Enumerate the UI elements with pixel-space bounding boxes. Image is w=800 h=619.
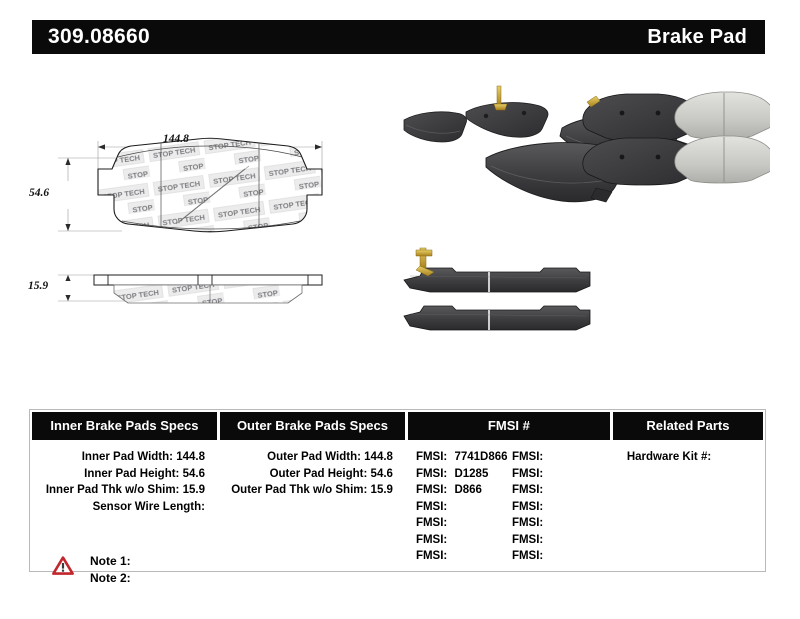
- fmsi-value: [543, 534, 547, 546]
- table-body-row: Inner Pad Width: 144.8 Inner Pad Height:…: [30, 442, 765, 571]
- header-outer-specs: Outer Brake Pads Specs: [220, 412, 405, 440]
- note-line: Note 2:: [90, 570, 131, 587]
- spec-label: Outer Pad Height:: [270, 468, 368, 480]
- technical-drawing: STOP TECH STOP TECH: [30, 125, 390, 355]
- spec-row: Outer Pad Thk w/o Shim: 15.9: [220, 482, 405, 499]
- fmsi-column-right: FMSI: FMSI: FMSI: FMSI:: [512, 449, 608, 565]
- fmsi-row: FMSI:: [416, 548, 512, 565]
- sensor-bracket-edge: [416, 248, 434, 276]
- fmsi-row: FMSI: D1285: [416, 466, 512, 483]
- fmsi-value: [543, 484, 547, 496]
- spec-label: Inner Pad Height:: [84, 468, 179, 480]
- fmsi-row: FMSI:: [512, 466, 608, 483]
- page-header-bar: 309.08660 Brake Pad: [32, 20, 765, 54]
- spec-row: Sensor Wire Length:: [32, 499, 217, 516]
- table-header-row: Inner Brake Pads Specs Outer Brake Pads …: [30, 410, 765, 442]
- fmsi-value: [447, 534, 451, 546]
- fmsi-row: FMSI:: [512, 532, 608, 549]
- part-number: 309.08660: [48, 25, 150, 49]
- width-arrow-right: [315, 144, 322, 149]
- spec-value: 54.6: [371, 468, 393, 480]
- brake-pad-pair-edge-photo: [404, 248, 590, 330]
- fmsi-value: [543, 468, 547, 480]
- thickness-dimension-label: 15.9: [28, 280, 48, 292]
- fmsi-row: FMSI:: [512, 449, 608, 466]
- spec-label: Outer Pad Thk w/o Shim:: [231, 484, 367, 496]
- related-part-row: Hardware Kit #:: [613, 449, 763, 466]
- fmsi-value: [543, 550, 547, 562]
- fmsi-label: FMSI:: [416, 501, 447, 513]
- fmsi-label: FMSI:: [512, 468, 543, 480]
- sensor-wire-clip: [497, 86, 501, 106]
- width-dimension-label: 144.8: [163, 133, 189, 145]
- spec-value: 15.9: [371, 484, 393, 496]
- spec-row: Inner Pad Width: 144.8: [32, 449, 217, 466]
- spec-value: 15.9: [183, 484, 205, 496]
- fmsi-value: [447, 517, 451, 529]
- related-parts-cell: Hardware Kit #:: [613, 442, 763, 565]
- fmsi-column-left: FMSI: 7741D866 FMSI: D1285 FMSI: D866 FM…: [416, 449, 512, 565]
- fmsi-row: FMSI:: [512, 548, 608, 565]
- note-lines: Note 1: Note 2:: [90, 553, 131, 587]
- spec-label: Sensor Wire Length:: [93, 501, 205, 513]
- spec-row: Outer Pad Width: 144.8: [220, 449, 405, 466]
- height-dimension-label: 54.6: [29, 187, 49, 199]
- related-part-label: Hardware Kit #:: [627, 451, 711, 463]
- fmsi-row: FMSI: 7741D866: [416, 449, 512, 466]
- fmsi-value: D1285: [450, 468, 488, 480]
- fmsi-label: FMSI:: [416, 484, 447, 496]
- product-type-title: Brake Pad: [647, 26, 747, 49]
- fmsi-cell: FMSI: 7741D866 FMSI: D1285 FMSI: D866 FM…: [408, 442, 610, 565]
- fmsi-row: FMSI: D866: [416, 482, 512, 499]
- pad-front-outline: [98, 138, 322, 232]
- fmsi-value: 7741D866: [450, 451, 507, 463]
- outer-specs-cell: Outer Pad Width: 144.8 Outer Pad Height:…: [220, 442, 405, 565]
- fmsi-value: [543, 517, 547, 529]
- fmsi-value: [447, 501, 451, 513]
- fmsi-row: FMSI:: [416, 499, 512, 516]
- height-arrow-top: [65, 158, 70, 165]
- fmsi-label: FMSI:: [512, 550, 543, 562]
- fmsi-row: FMSI:: [416, 532, 512, 549]
- brake-pad-drawing-svg: STOP TECH STOP TECH: [30, 125, 390, 355]
- spec-row: Outer Pad Height: 54.6: [220, 466, 405, 483]
- fmsi-label: FMSI:: [512, 501, 543, 513]
- header-inner-specs: Inner Brake Pads Specs: [32, 412, 217, 440]
- spec-label: Outer Pad Width:: [267, 451, 361, 463]
- spec-value: 144.8: [176, 451, 205, 463]
- spec-value: 144.8: [364, 451, 393, 463]
- fmsi-label: FMSI:: [416, 468, 447, 480]
- fmsi-label: FMSI:: [416, 451, 447, 463]
- pad-side-profile: [58, 275, 322, 303]
- spec-row: Inner Pad Thk w/o Shim: 15.9: [32, 482, 217, 499]
- product-photos: [390, 80, 770, 370]
- fmsi-value: [543, 501, 547, 513]
- spec-row: Inner Pad Height: 54.6: [32, 466, 217, 483]
- fmsi-label: FMSI:: [512, 534, 543, 546]
- inner-specs-cell: Inner Pad Width: 144.8 Inner Pad Height:…: [32, 442, 217, 565]
- fmsi-label: FMSI:: [416, 534, 447, 546]
- product-photos-svg: [390, 80, 770, 370]
- header-fmsi: FMSI #: [408, 412, 610, 440]
- spec-value: 54.6: [183, 468, 205, 480]
- note-line: Note 1:: [90, 553, 131, 570]
- width-arrow-left: [98, 144, 105, 149]
- fmsi-value: [447, 550, 451, 562]
- specifications-table: Inner Brake Pads Specs Outer Brake Pads …: [29, 409, 766, 572]
- fmsi-row: FMSI:: [512, 499, 608, 516]
- fmsi-label: FMSI:: [512, 484, 543, 496]
- fmsi-label: FMSI:: [416, 550, 447, 562]
- fmsi-value: [543, 451, 547, 463]
- fmsi-row: FMSI:: [416, 515, 512, 532]
- fmsi-label: FMSI:: [512, 517, 543, 529]
- notes-section: Note 1: Note 2:: [52, 553, 131, 587]
- fmsi-value: D866: [450, 484, 482, 496]
- spec-label: Inner Pad Width:: [82, 451, 173, 463]
- warning-triangle-icon: [52, 556, 74, 580]
- fmsi-label: FMSI:: [416, 517, 447, 529]
- header-related-parts: Related Parts: [613, 412, 763, 440]
- height-arrow-bottom: [65, 224, 70, 231]
- spec-label: Inner Pad Thk w/o Shim:: [46, 484, 180, 496]
- fmsi-row: FMSI:: [512, 515, 608, 532]
- brake-pad-set-topdown-photo: [583, 92, 770, 185]
- fmsi-row: FMSI:: [512, 482, 608, 499]
- fmsi-label: FMSI:: [512, 451, 543, 463]
